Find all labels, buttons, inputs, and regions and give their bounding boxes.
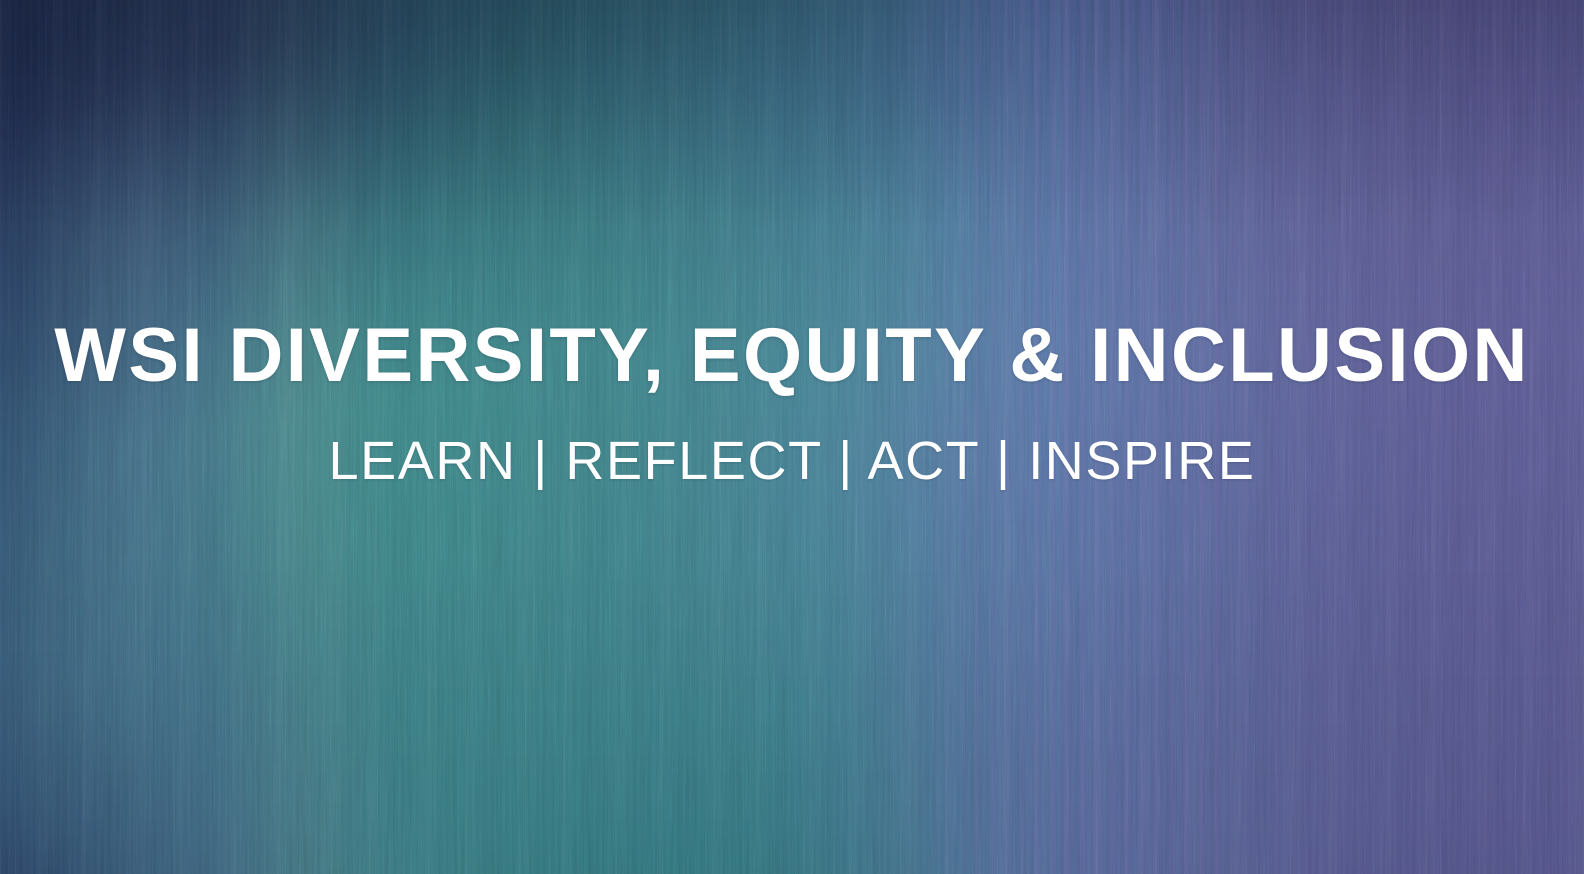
banner-subtitle: LEARN | REFLECT | ACT | INSPIRE — [0, 434, 1584, 488]
banner-content: WSI DIVERSITY, EQUITY & INCLUSION LEARN … — [0, 0, 1584, 874]
dei-banner: WSI DIVERSITY, EQUITY & INCLUSION LEARN … — [0, 0, 1584, 874]
page-title: WSI DIVERSITY, EQUITY & INCLUSION — [0, 318, 1584, 394]
